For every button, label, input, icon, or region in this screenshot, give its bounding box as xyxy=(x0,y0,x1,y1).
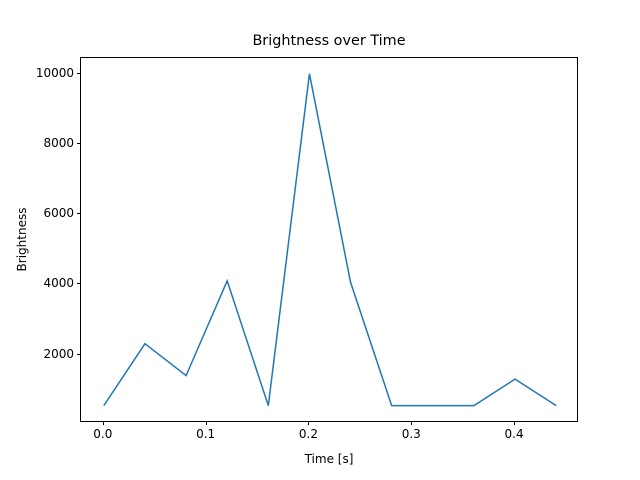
y-axis-tick-mark xyxy=(77,283,81,284)
y-axis-tick-mark xyxy=(77,213,81,214)
y-axis-tick-label: 8000 xyxy=(43,137,74,149)
x-axis-tick-mark xyxy=(206,422,207,426)
x-axis-tick-label: 0.0 xyxy=(73,428,133,440)
x-axis-tick-label: 0.2 xyxy=(278,428,338,440)
chart-title: Brightness over Time xyxy=(80,33,578,50)
y-axis-tick-mark xyxy=(77,73,81,74)
x-axis-tick-mark xyxy=(411,422,412,426)
x-axis-tick-label: 0.3 xyxy=(381,428,441,440)
plot-area xyxy=(80,57,578,422)
y-axis-tick-label: 10000 xyxy=(36,67,74,79)
x-axis-tick-mark xyxy=(514,422,515,426)
y-axis-tick-label: 6000 xyxy=(43,207,74,219)
x-axis-tick-mark xyxy=(308,422,309,426)
x-axis-tick-label: 0.1 xyxy=(176,428,236,440)
x-axis-tick-label: 0.4 xyxy=(484,428,544,440)
x-axis-tick-mark xyxy=(103,422,104,426)
y-axis-tick-label: 4000 xyxy=(43,277,74,289)
y-axis-tick-label: 2000 xyxy=(43,348,74,360)
chart-figure: Brightness over Time 2000400060008000100… xyxy=(0,0,640,480)
y-axis-label: Brightness xyxy=(14,57,30,422)
y-axis-tick-mark xyxy=(77,143,81,144)
x-axis-label: Time [s] xyxy=(80,452,578,466)
brightness-line-series xyxy=(81,58,579,423)
y-axis-tick-mark xyxy=(77,354,81,355)
